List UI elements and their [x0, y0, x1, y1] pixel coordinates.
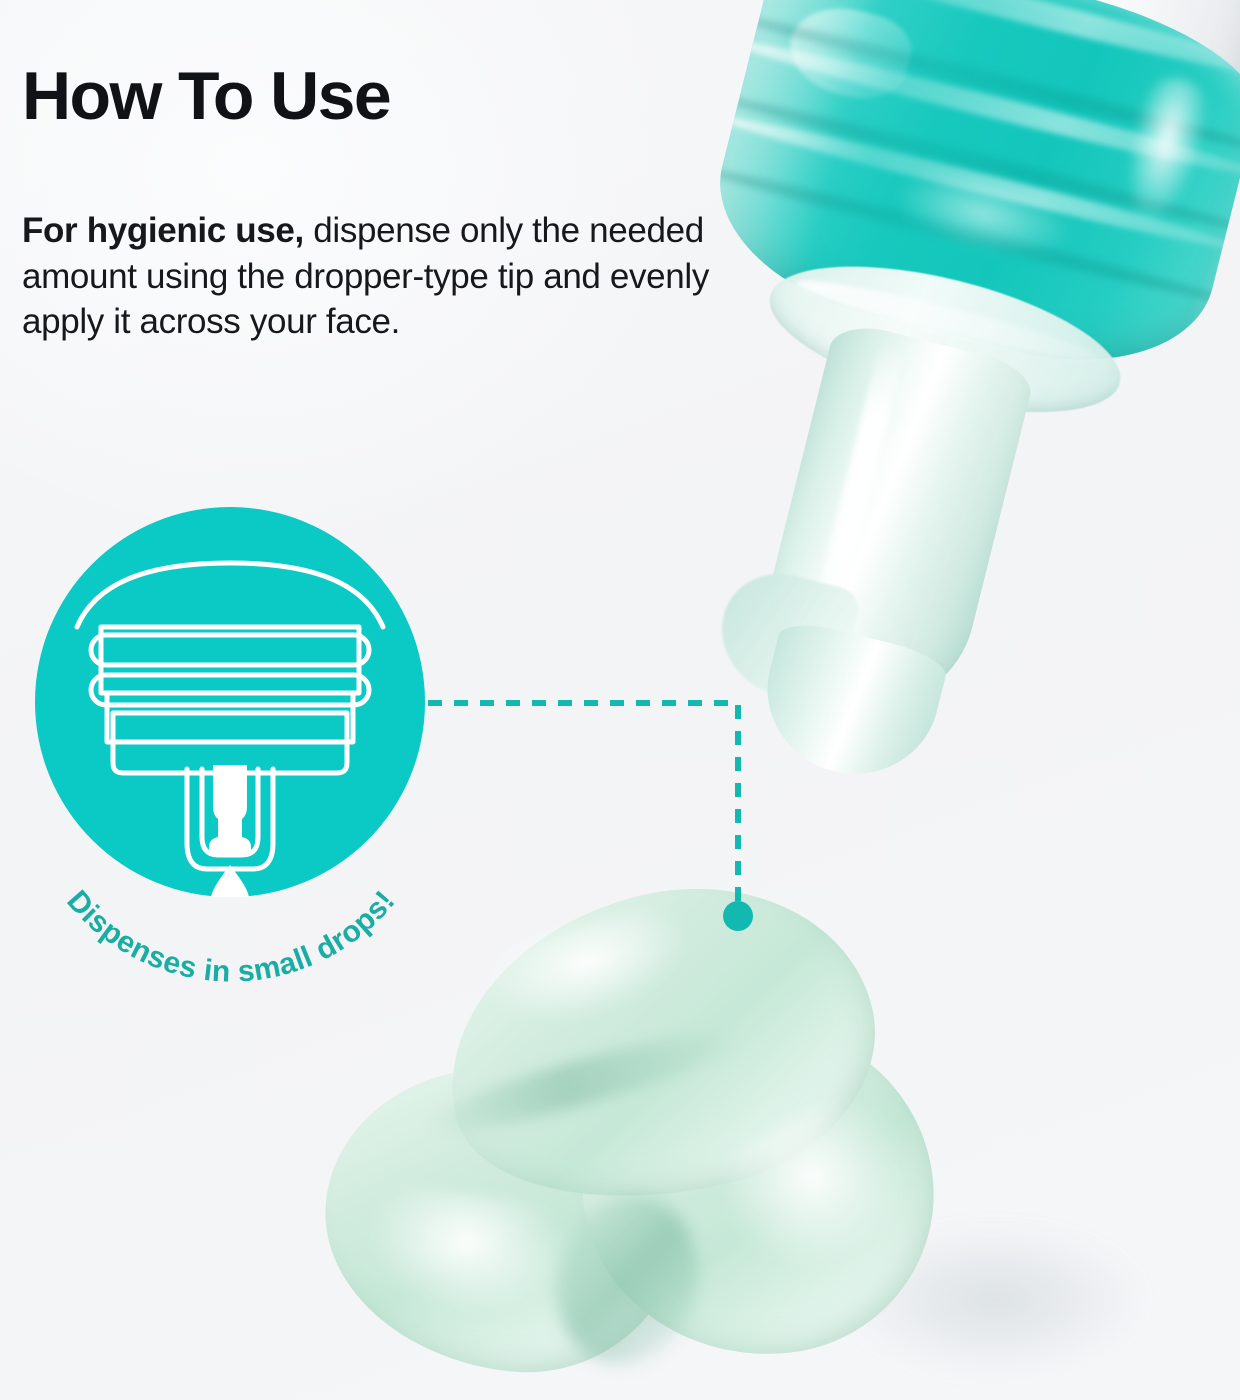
- cream-swirl-photo: [325, 895, 945, 1365]
- dropper-tip-icon: [35, 507, 425, 897]
- instruction-text: For hygienic use, dispense only the need…: [22, 208, 712, 345]
- how-to-use-panel: How To Use For hygienic use, dispense on…: [0, 0, 1240, 1400]
- instruction-lead: For hygienic use,: [22, 211, 304, 250]
- dispense-badge: Dispenses in small drops!: [35, 507, 425, 897]
- page-title: How To Use: [22, 62, 390, 130]
